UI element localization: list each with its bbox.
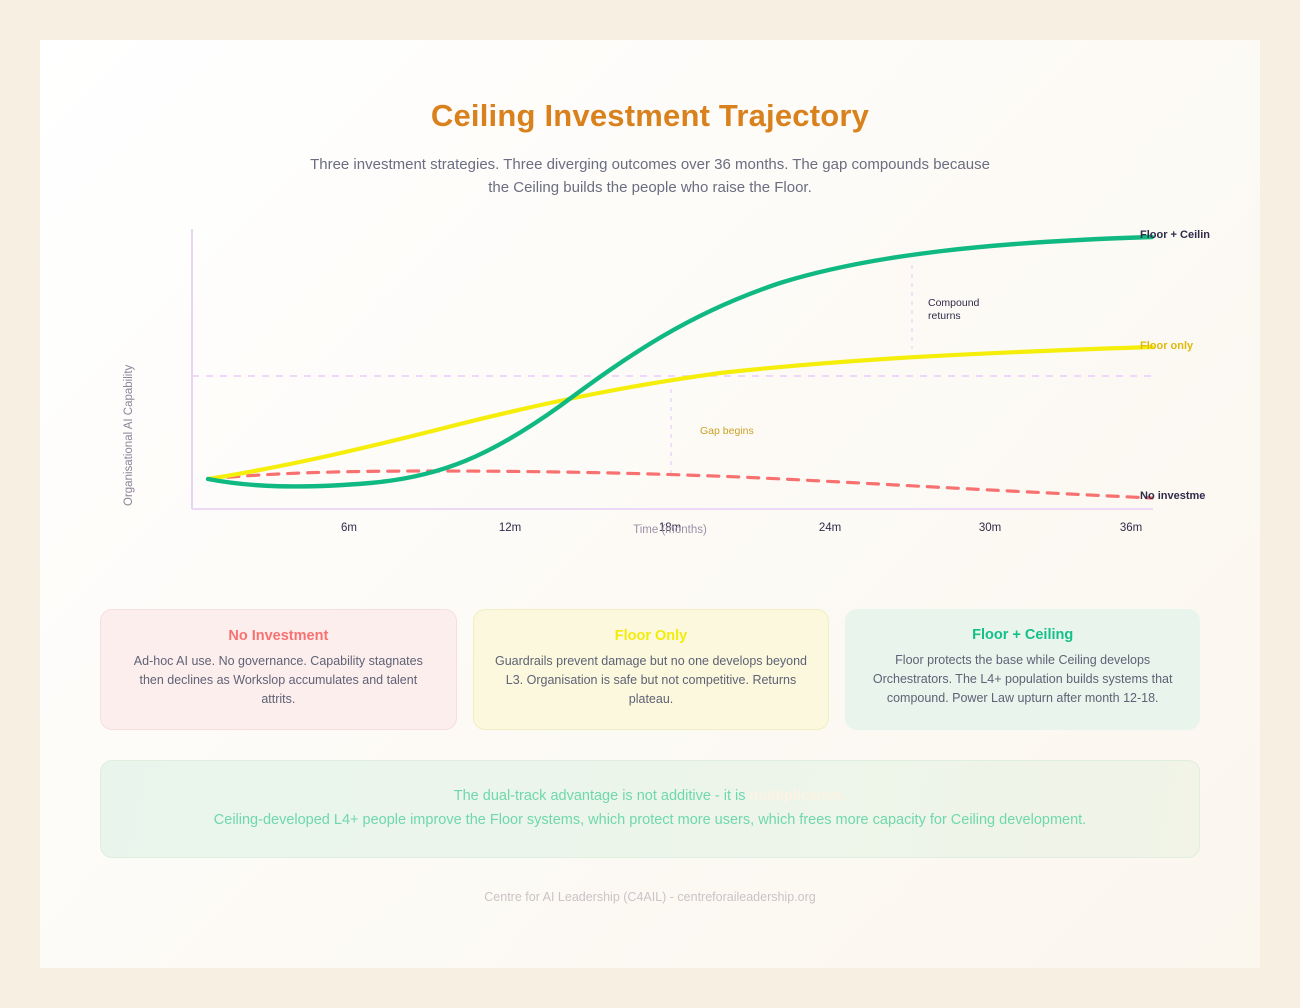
x-tick-30m: 30m	[979, 522, 1001, 534]
end-label-no-investment: No investme	[1140, 490, 1205, 502]
banner-line-1: The dual-track advantage is not additive…	[131, 785, 1169, 807]
summary-banner: The dual-track advantage is not additive…	[100, 760, 1200, 858]
footer-attribution: Centre for AI Leadership (C4AIL) - centr…	[40, 890, 1260, 904]
card-title: No Investment	[121, 628, 436, 644]
card-body: Floor protects the base while Ceiling de…	[865, 651, 1180, 708]
x-tick-36m: 36m	[1120, 522, 1142, 534]
card-floor-ceiling: Floor + Ceiling Floor protects the base …	[845, 609, 1200, 730]
x-tick-12m: 12m	[499, 522, 521, 534]
card-body: Guardrails prevent damage but no one dev…	[494, 652, 809, 709]
page-subtitle: Three investment strategies. Three diver…	[305, 153, 995, 199]
chart-plot-area	[40, 221, 1260, 521]
page-title: Ceiling Investment Trajectory	[40, 98, 1260, 134]
page-root: Ceiling Investment Trajectory Three inve…	[0, 0, 1300, 1008]
card-no-investment: No Investment Ad-hoc AI use. No governan…	[100, 609, 457, 730]
banner-highlight: multiplicative.	[750, 788, 847, 804]
annotation-compound-returns: Compound returns	[928, 297, 979, 323]
x-tick-24m: 24m	[819, 522, 841, 534]
card-body: Ad-hoc AI use. No governance. Capability…	[121, 652, 436, 709]
annotation-gap-begins: Gap begins	[700, 425, 754, 438]
x-tick-6m: 6m	[341, 522, 357, 534]
chart-x-axis-label: Time (months)	[633, 524, 707, 536]
banner-line-2: Ceiling-developed L4+ people improve the…	[131, 809, 1169, 831]
header: Ceiling Investment Trajectory Three inve…	[40, 40, 1260, 199]
end-label-floor-ceiling: Floor + Ceilin	[1140, 229, 1210, 241]
end-label-floor-only: Floor only	[1140, 340, 1193, 352]
trajectory-chart: Organisational AI Capability Fl	[40, 221, 1260, 571]
content-panel: Ceiling Investment Trajectory Three inve…	[40, 40, 1260, 968]
card-floor-only: Floor Only Guardrails prevent damage but…	[473, 609, 830, 730]
card-title: Floor + Ceiling	[865, 627, 1180, 643]
banner-line-1-prefix: The dual-track advantage is not additive…	[454, 788, 750, 804]
card-title: Floor Only	[494, 628, 809, 644]
strategy-cards: No Investment Ad-hoc AI use. No governan…	[40, 609, 1260, 730]
series-line-floor-only	[208, 347, 1152, 479]
